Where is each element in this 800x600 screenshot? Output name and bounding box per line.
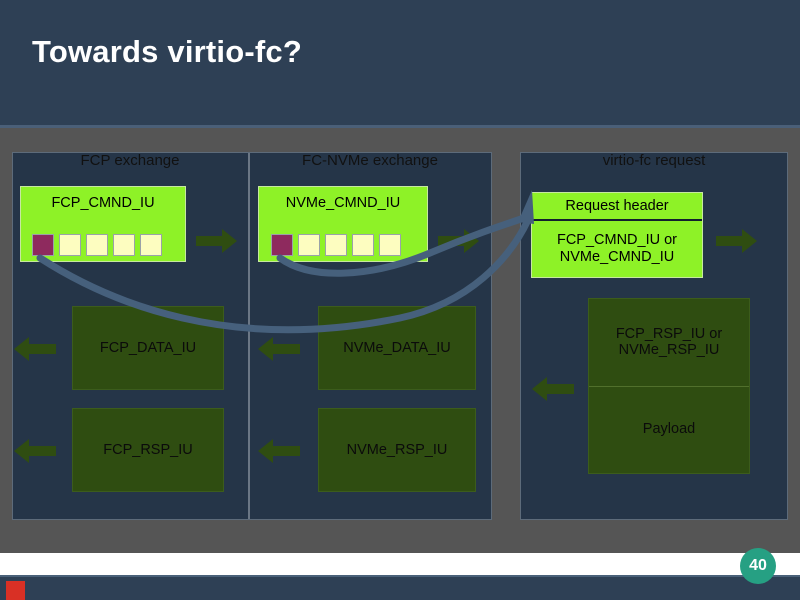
segment-request-cmnd: FCP_CMND_IU or NVMe_CMND_IU: [532, 221, 702, 277]
box-fcp-rsp-iu[interactable]: FCP_RSP_IU: [72, 408, 224, 492]
slide-root: Towards virtio-fc? FCP exchange FC-NVMe …: [0, 0, 800, 600]
panel-title-fc-nvme-exchange: FC-NVMe exchange: [248, 152, 492, 169]
box-label-fcp-rsp-iu: FCP_RSP_IU: [103, 442, 192, 459]
label-request-header: Request header: [565, 198, 668, 215]
square-plain: [140, 234, 162, 256]
arrow-nvme-rsp-left: [256, 438, 300, 464]
arrow-nvme-data-left: [256, 336, 300, 362]
square-plain: [352, 234, 374, 256]
box-virtio-response[interactable]: FCP_RSP_IU or NVMe_RSP_IU Payload: [588, 298, 750, 474]
square-plain: [59, 234, 81, 256]
arrow-fcp-cmnd-right: [196, 228, 238, 254]
footer-gap: [0, 553, 800, 575]
box-nvme-data-iu[interactable]: NVMe_DATA_IU: [318, 306, 476, 390]
page-title: Towards virtio-fc?: [32, 34, 302, 70]
arrow-virtio-response-left: [530, 376, 574, 402]
square-plain: [298, 234, 320, 256]
arrow-fcp-data-left: [12, 336, 56, 362]
label-request-cmnd-line2: NVMe_CMND_IU: [560, 249, 674, 266]
square-plain: [325, 234, 347, 256]
page-number-badge: 40: [740, 548, 776, 584]
segment-response-payload: Payload: [589, 387, 749, 474]
panel-title-virtio-fc-request: virtio-fc request: [520, 152, 788, 169]
box-label-fcp-data-iu: FCP_DATA_IU: [100, 340, 196, 357]
box-label-fcp-cmnd-iu: FCP_CMND_IU: [51, 195, 154, 212]
box-label-nvme-cmnd-iu: NVMe_CMND_IU: [286, 195, 400, 212]
arrow-virtio-request-right: [716, 228, 758, 254]
diagram-canvas: FCP exchange FC-NVMe exchange virtio-fc …: [0, 128, 800, 553]
segment-response-rsp: FCP_RSP_IU or NVMe_RSP_IU: [589, 299, 749, 387]
slide-header: Towards virtio-fc?: [0, 0, 800, 125]
footer-accent-square: [6, 581, 25, 600]
square-plain: [379, 234, 401, 256]
square-plain: [113, 234, 135, 256]
label-request-cmnd-line1: FCP_CMND_IU or: [557, 232, 677, 249]
panel-divider: [248, 153, 250, 519]
slide-footer: [0, 575, 800, 600]
arrow-nvme-cmnd-right: [438, 228, 480, 254]
panel-title-fcp-exchange: FCP exchange: [12, 152, 248, 169]
square-accent: [271, 234, 293, 256]
segment-request-header: Request header: [532, 193, 702, 221]
box-label-nvme-data-iu: NVMe_DATA_IU: [343, 340, 450, 357]
box-label-nvme-rsp-iu: NVMe_RSP_IU: [347, 442, 448, 459]
label-response-rsp-line1: FCP_RSP_IU or: [616, 326, 722, 343]
label-response-rsp-line2: NVMe_RSP_IU: [619, 342, 720, 359]
squares-fcp-cmnd-iu: [32, 234, 162, 256]
box-fcp-data-iu[interactable]: FCP_DATA_IU: [72, 306, 224, 390]
squares-nvme-cmnd-iu: [271, 234, 401, 256]
box-nvme-rsp-iu[interactable]: NVMe_RSP_IU: [318, 408, 476, 492]
label-response-payload: Payload: [643, 421, 695, 438]
square-plain: [86, 234, 108, 256]
box-virtio-request[interactable]: Request header FCP_CMND_IU or NVMe_CMND_…: [531, 192, 703, 278]
square-accent: [32, 234, 54, 256]
arrow-fcp-rsp-left: [12, 438, 56, 464]
